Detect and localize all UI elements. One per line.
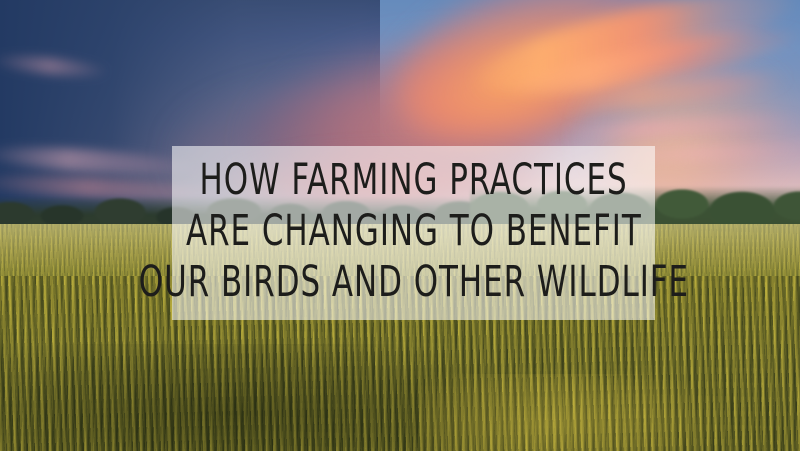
banner-image: How Farming Practices Are Changing To Be… [0,0,800,451]
headline-line-2: Are Changing To Benefit [186,210,642,253]
headline-line-3: Our Birds And Other Wildlife [138,261,688,304]
headline-line-1: How Farming Practices [199,159,627,202]
field-highlight-patch [420,374,800,451]
headline-overlay-panel: How Farming Practices Are Changing To Be… [172,146,655,320]
